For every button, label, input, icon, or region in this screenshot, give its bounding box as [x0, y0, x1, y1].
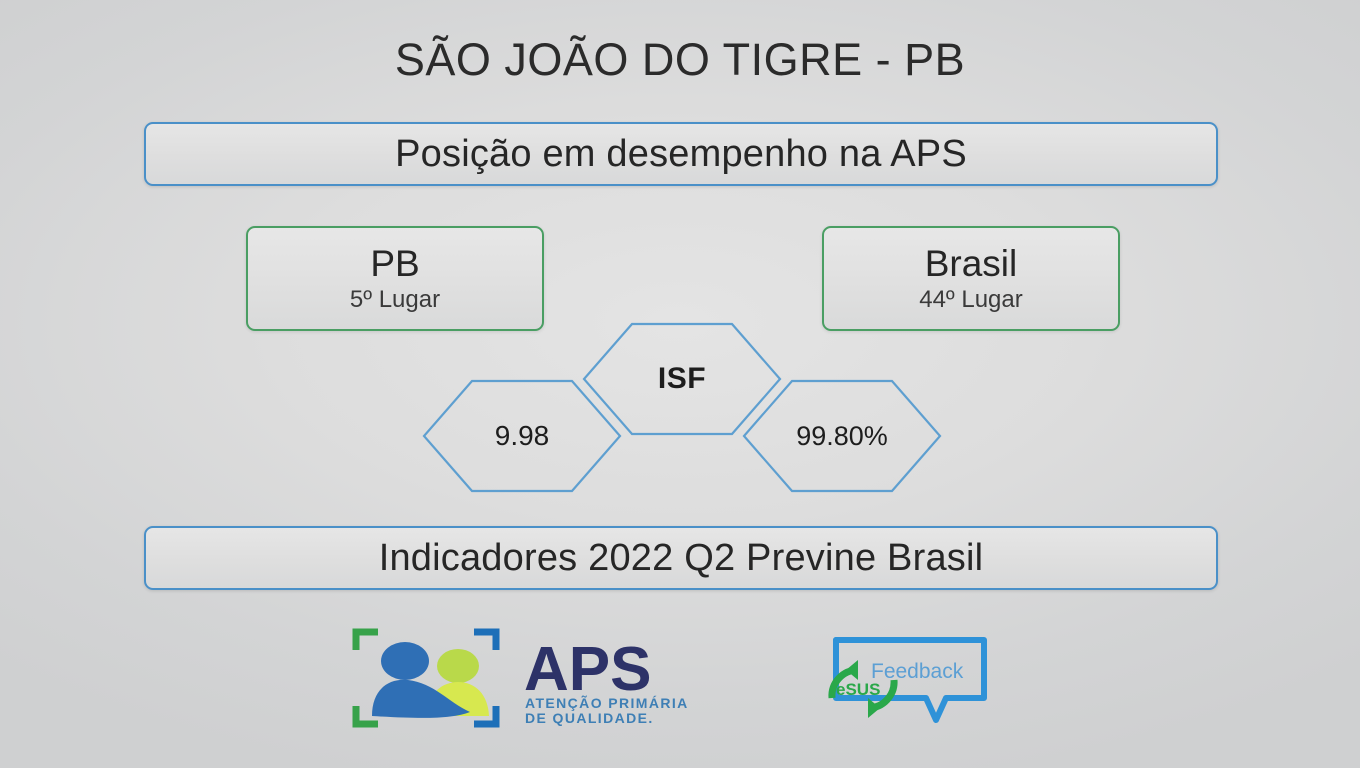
feedback-logo: eSUS Feedback — [818, 628, 1004, 732]
feedback-logo-graphic: eSUS Feedback — [818, 628, 1004, 732]
isf-hexagon-cluster: ISF 9.98 99.80% — [415, 318, 955, 503]
hexagon-isf-percent-label: 99.80% — [796, 421, 888, 452]
banner-indicators-label: Indicadores 2022 Q2 Previne Brasil — [379, 537, 984, 580]
aps-tagline-line1: ATENÇÃO PRIMÁRIA — [525, 694, 689, 711]
rank-card-brasil-place: 44º Lugar — [919, 286, 1023, 314]
banner-performance-position: Posição em desempenho na APS — [144, 122, 1218, 186]
footer-logos: APS ATENÇÃO PRIMÁRIA DE QUALIDADE. eSUS … — [0, 612, 1360, 742]
rank-card-pb: PB 5º Lugar — [246, 226, 544, 331]
bracket-top-right-icon — [474, 632, 496, 650]
rank-card-brasil: Brasil 44º Lugar — [822, 226, 1120, 331]
banner-indicators: Indicadores 2022 Q2 Previne Brasil — [144, 526, 1218, 590]
hexagon-isf-percent: 99.80% — [743, 380, 941, 492]
banner-performance-position-label: Posição em desempenho na APS — [395, 133, 967, 176]
page-title: SÃO JOÃO DO TIGRE - PB — [0, 34, 1360, 86]
hexagon-isf-label: ISF — [658, 362, 706, 396]
rank-card-pb-name: PB — [370, 245, 419, 284]
bracket-top-left-icon — [356, 632, 378, 650]
hexagon-isf-value: 9.98 — [423, 380, 621, 492]
hexagon-isf-value-label: 9.98 — [495, 420, 550, 452]
rank-card-pb-place: 5º Lugar — [350, 286, 440, 314]
aps-wordmark: APS — [524, 635, 651, 704]
aps-logo: APS ATENÇÃO PRIMÁRIA DE QUALIDADE. — [348, 624, 728, 732]
aps-tagline-line2: DE QUALIDADE. — [525, 710, 654, 726]
rank-card-brasil-name: Brasil — [925, 245, 1018, 284]
feedback-label: Feedback — [871, 660, 964, 683]
aps-logo-graphic: APS ATENÇÃO PRIMÁRIA DE QUALIDADE. — [348, 624, 728, 732]
